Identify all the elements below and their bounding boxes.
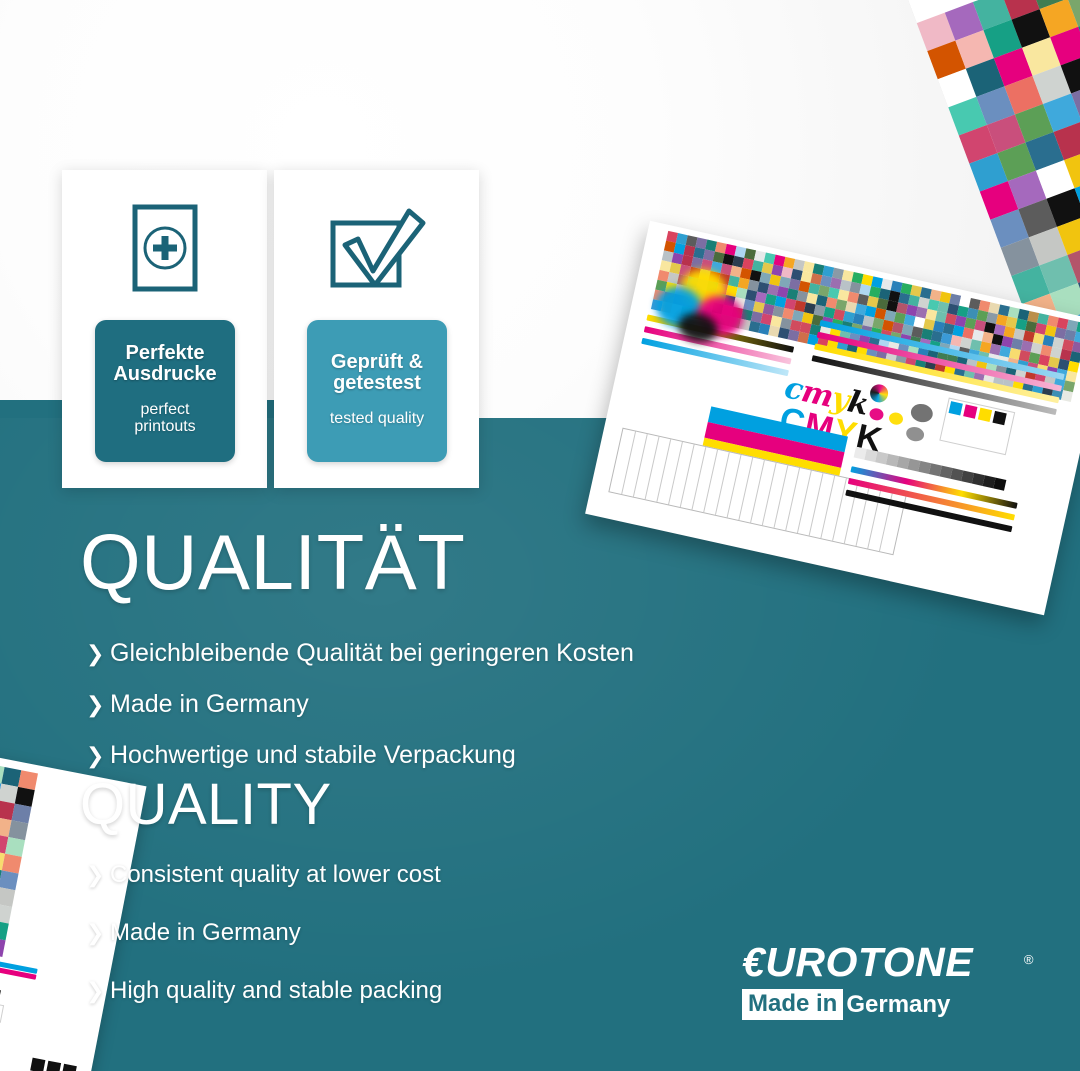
german-bullet-item: ❯Gleichbleibende Qualität bei geringeren…: [86, 632, 634, 675]
english-bullet-item: ❯Made in Germany: [86, 908, 442, 958]
german-bullet-text: Made in Germany: [110, 683, 309, 725]
logo-wordmark: €UROTONE®: [742, 940, 1032, 984]
rainbow-dot: [868, 383, 889, 404]
eurotone-logo: €UROTONE® Made in Germany: [742, 940, 1032, 1020]
card1-subtitle-line2: printouts: [134, 418, 195, 435]
color-patch: [0, 920, 9, 940]
logo-tagline: Made in Germany: [742, 989, 1032, 1020]
german-bullet-item: ❯Made in Germany: [86, 683, 634, 726]
card2-subtitle-line1: tested quality: [330, 410, 424, 427]
color-patch: [0, 904, 12, 924]
promo-banner: cmyk CMYK: [0, 0, 1080, 1071]
card1-title-line1: Perfekte: [126, 342, 205, 364]
card1-subtitle-line1: perfect: [141, 401, 190, 418]
ruler-tick: [692, 447, 707, 510]
logo-brand: UROTONE: [765, 939, 973, 985]
card1-title-line2: Ausdrucke: [113, 363, 216, 385]
chevron-right-icon: ❯: [86, 850, 110, 900]
ruler-tick: [656, 439, 671, 502]
ruler-tick: [762, 463, 777, 526]
ruler-tick: [738, 457, 753, 520]
german-heading: QUALITÄT: [80, 522, 465, 602]
ruler-tick: [785, 468, 800, 531]
ruler-tick: [809, 473, 824, 536]
document-plus-icon: [62, 194, 267, 302]
grey-step: [993, 478, 1006, 491]
german-bullet-text: Gleichbleibende Qualität bei geringeren …: [110, 632, 634, 674]
ruler-tick: [774, 465, 789, 528]
color-patch: [0, 937, 6, 957]
english-bullet-item: ❯Consistent quality at lower cost: [86, 850, 442, 900]
chevron-right-icon: ❯: [86, 908, 110, 958]
chevron-right-icon: ❯: [86, 633, 110, 675]
ruler-tick: [727, 455, 742, 518]
german-bullet-item: ❯Hochwertige und stabile Verpackung: [86, 734, 634, 777]
german-bullet-list: ❯Gleichbleibende Qualität bei geringeren…: [86, 632, 634, 785]
registered-icon: ®: [1024, 938, 1034, 982]
logo-germany: Germany: [846, 991, 950, 1019]
ruler-tick: [750, 460, 765, 523]
badge-perfect-printouts: Perfekte Ausdrucke perfect printouts: [95, 320, 235, 462]
english-bullet-item: ❯High quality and stable packing: [86, 966, 442, 1016]
logo-made-in: Made in: [742, 989, 843, 1020]
badge-tested-quality: Geprüft & getestest tested quality: [307, 320, 447, 462]
color-patch: [0, 887, 15, 907]
ruler-tick: [820, 476, 835, 539]
bl-swatch-grid: [0, 757, 38, 957]
chevron-right-icon: ❯: [86, 684, 110, 726]
chevron-right-icon: ❯: [86, 966, 110, 1016]
checkbox-check-pen-icon: [274, 194, 479, 302]
ruler-tick: [621, 431, 636, 494]
card2-title-line2: getestest: [333, 372, 421, 394]
german-bullet-text: Hochwertige und stabile Verpackung: [110, 734, 516, 776]
ruler-tick: [832, 478, 847, 541]
logo-euro-symbol: €: [742, 939, 765, 985]
feature-card-perfect-printouts[interactable]: Perfekte Ausdrucke perfect printouts: [62, 170, 267, 488]
english-bullet-text: Consistent quality at lower cost: [110, 850, 441, 900]
color-patch: [1061, 390, 1073, 402]
english-heading: QUALITY: [80, 775, 332, 835]
english-bullet-text: Made in Germany: [110, 908, 301, 958]
ruler-tick: [668, 442, 683, 505]
english-bullet-text: High quality and stable packing: [110, 966, 442, 1016]
ruler-tick: [645, 437, 660, 500]
feature-card-tested-quality[interactable]: Geprüft & getestest tested quality: [274, 170, 479, 488]
ruler-tick: [797, 470, 812, 533]
card2-title-line1: Geprüft &: [331, 351, 423, 373]
ruler-tick: [633, 434, 648, 497]
english-bullet-list: ❯Consistent quality at lower cost❯Made i…: [86, 850, 442, 1024]
ruler-tick: [715, 452, 730, 515]
ruler-tick: [703, 450, 718, 513]
ruler-tick: [680, 444, 695, 507]
chevron-right-icon: ❯: [86, 735, 110, 777]
